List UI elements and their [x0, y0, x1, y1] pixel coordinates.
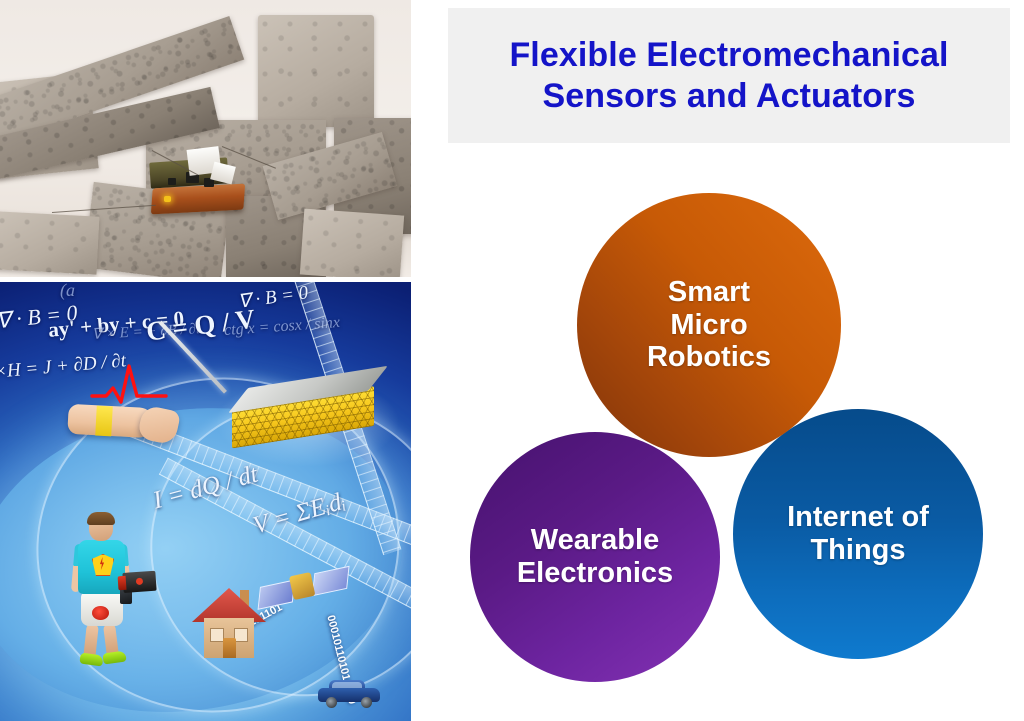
bubble-line: Wearable	[517, 524, 673, 557]
bubble-label-wearable-electronics: Wearable Electronics	[517, 524, 673, 590]
satellite-solar-panel-right	[312, 566, 350, 596]
bubble-line: Internet of	[787, 501, 929, 534]
bubble-line: Electronics	[517, 557, 673, 590]
bubble-wearable-electronics[interactable]: Wearable Electronics	[470, 432, 720, 682]
knee-sensor	[92, 606, 109, 620]
house-door	[223, 638, 236, 658]
bubble-line: Micro	[647, 309, 771, 342]
left-figure-column: ∇ · B = 0 ay' + by + c = 0 ∇ × E = − ∂B …	[0, 0, 411, 721]
car-wheel	[361, 697, 372, 708]
equation-text: (a	[60, 282, 75, 301]
bubble-label-smart-micro-robotics: Smart Micro Robotics	[647, 276, 771, 374]
sensor-led-indicator	[164, 196, 171, 202]
bubble-internet-of-things[interactable]: Internet of Things	[733, 409, 983, 659]
equation-text: ∇ · B = 0	[0, 300, 79, 334]
bubble-line: Robotics	[647, 341, 771, 374]
title-line-1: Flexible Electromechanical	[509, 36, 948, 74]
right-content-panel: Flexible Electromechanical Sensors and A…	[411, 0, 1024, 721]
person-shoe-right	[102, 650, 126, 664]
iot-equations-artwork: ∇ · B = 0 ay' + by + c = 0 ∇ × E = − ∂B …	[0, 282, 411, 721]
connected-car	[318, 680, 380, 706]
house-window	[210, 628, 224, 642]
bubble-line: Smart	[647, 276, 771, 309]
satellite-body	[289, 572, 316, 600]
title-line-2: Sensors and Actuators	[542, 77, 915, 115]
person-hair	[87, 512, 115, 525]
battery-component	[117, 571, 156, 594]
house-roof	[192, 588, 266, 622]
battery-terminal	[118, 576, 127, 591]
title-card: Flexible Electromechanical Sensors and A…	[448, 8, 1010, 143]
bubble-smart-micro-robotics[interactable]: Smart Micro Robotics	[577, 193, 841, 457]
house-window	[234, 628, 248, 642]
bubble-line: Things	[787, 534, 929, 567]
concrete-block	[300, 209, 404, 277]
equation-text: ∇ × E = − ∂B / ∂t	[92, 319, 201, 344]
bubble-label-internet-of-things: Internet of Things	[787, 501, 929, 567]
sensor-chip	[168, 178, 176, 185]
concrete-rubble-sensor-photo	[0, 0, 411, 277]
concrete-block	[258, 15, 374, 127]
concrete-block	[0, 211, 99, 274]
smart-house	[196, 588, 262, 658]
car-wheel	[326, 697, 337, 708]
pulse-waveform-icon	[90, 362, 168, 406]
page-title: Flexible Electromechanical Sensors and A…	[448, 35, 1010, 115]
wearable-sensor-band	[95, 406, 113, 437]
